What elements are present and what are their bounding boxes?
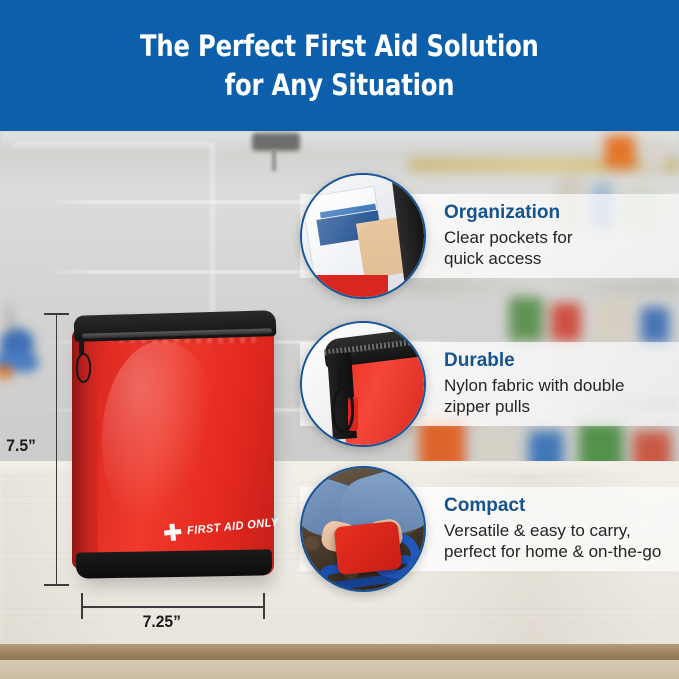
table-front-face bbox=[0, 660, 679, 679]
feature-description: Versatile & easy to carry, perfect for h… bbox=[444, 520, 661, 563]
feature-description: Nylon fabric with double zipper pulls bbox=[444, 375, 624, 418]
feature-image-compact bbox=[300, 466, 426, 592]
garage-opener-stem bbox=[272, 149, 276, 171]
height-dimension-label: 7.5” bbox=[6, 436, 36, 456]
feature-text-organization: Organization Clear pockets for quick acc… bbox=[444, 202, 573, 269]
width-dimension-cap-left bbox=[81, 593, 83, 619]
width-dimension-line bbox=[81, 606, 265, 608]
bag-bottom-trim bbox=[76, 549, 272, 578]
width-dimension-cap-right bbox=[263, 593, 265, 619]
table-edge bbox=[0, 644, 679, 660]
product-infographic: The Perfect First Aid Solution for Any S… bbox=[0, 0, 679, 679]
feature-title: Durable bbox=[444, 350, 624, 372]
first-aid-cross-icon bbox=[163, 523, 182, 542]
bag-highlight bbox=[102, 341, 222, 541]
garage-floor-clutter bbox=[0, 306, 54, 386]
feature-durable: Durable Nylon fabric with double zipper … bbox=[300, 320, 679, 448]
feature-compact: Compact Versatile & easy to carry, perfe… bbox=[300, 465, 679, 593]
height-dimension-line bbox=[56, 313, 57, 585]
feature-title: Compact bbox=[444, 495, 661, 517]
feature-text-compact: Compact Versatile & easy to carry, perfe… bbox=[444, 495, 661, 562]
garage-opener-icon bbox=[252, 133, 300, 151]
header-title-line-2: for Any Situation bbox=[225, 66, 455, 104]
bag-zipper-pull bbox=[76, 339, 87, 379]
feature-image-durable bbox=[300, 321, 426, 447]
product-scene: 7.5” 7.25” FIR bbox=[0, 131, 679, 679]
header-banner: The Perfect First Aid Solution for Any S… bbox=[0, 0, 679, 131]
height-dimension-cap-top bbox=[44, 313, 69, 315]
feature-description: Clear pockets for quick access bbox=[444, 227, 573, 270]
feature-organization: Organization Clear pockets for quick acc… bbox=[300, 172, 679, 300]
width-dimension-label: 7.25” bbox=[143, 612, 181, 632]
feature-title: Organization bbox=[444, 202, 573, 224]
height-dimension-cap-bottom bbox=[44, 584, 69, 586]
feature-image-organization bbox=[300, 173, 426, 299]
first-aid-bag-product: FIRST AID ONLY bbox=[68, 311, 288, 583]
header-title-line-1: The Perfect First Aid Solution bbox=[140, 27, 539, 65]
feature-text-durable: Durable Nylon fabric with double zipper … bbox=[444, 350, 624, 417]
